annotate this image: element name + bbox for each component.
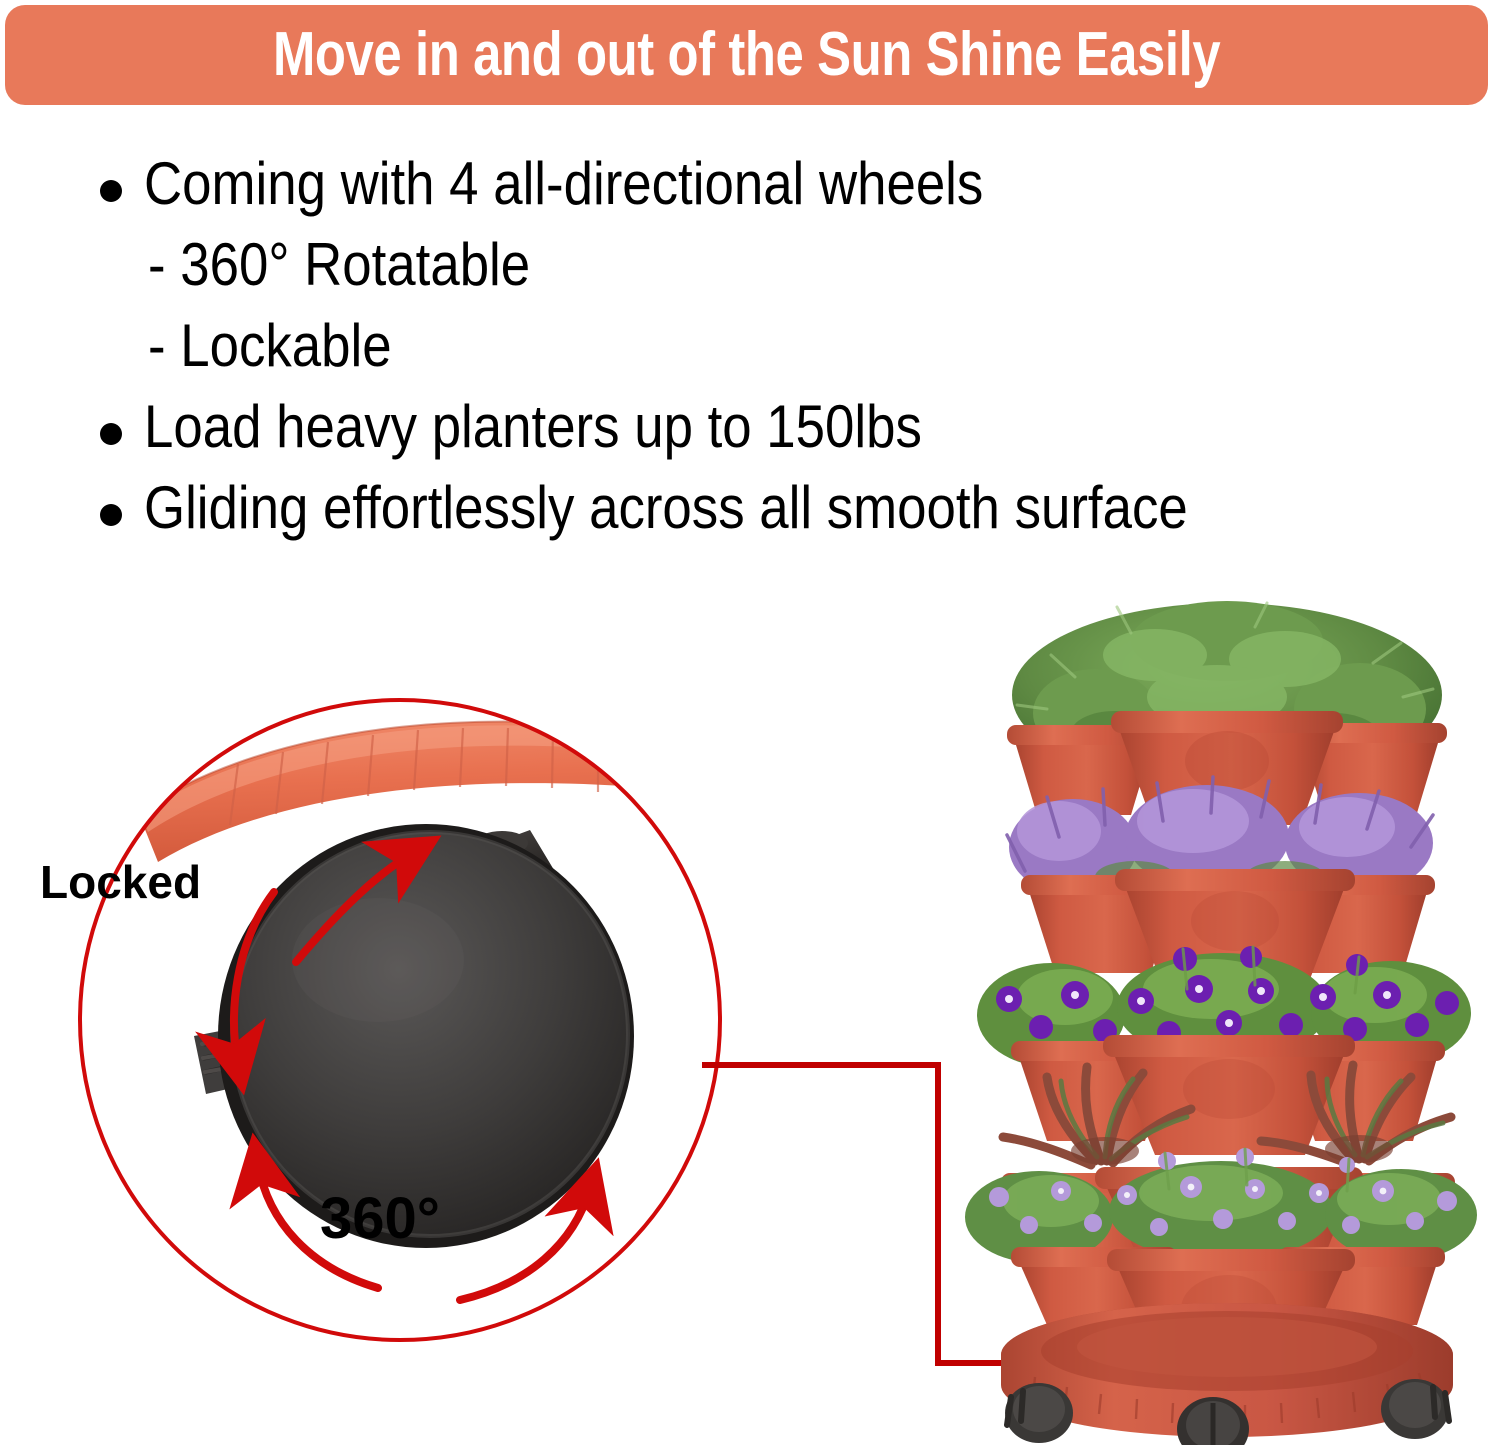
page-title: Move in and out of the Sun Shine Easily (273, 24, 1220, 86)
bullet-point-icon (100, 423, 122, 445)
list-item: Gliding effortlessly across all smooth s… (100, 476, 1480, 539)
feature-text: Coming with 4 all-directional wheels (144, 152, 983, 215)
feature-text: - Lockable (148, 314, 392, 377)
stackable-planter-tower-image (955, 585, 1500, 1445)
rotation-degree-label: 360° (320, 1185, 440, 1252)
tier-5-lobelia (965, 1148, 1477, 1263)
header-banner: Move in and out of the Sun Shine Easily (5, 5, 1488, 105)
list-item: Coming with 4 all-directional wheels (100, 152, 1480, 215)
feature-text: Load heavy planters up to 150lbs (144, 395, 922, 458)
feature-text: Gliding effortlessly across all smooth s… (144, 476, 1188, 539)
feature-text: - 360° Rotatable (148, 233, 530, 296)
list-item: - Lockable (100, 314, 1480, 377)
list-item: - 360° Rotatable (100, 233, 1480, 296)
locked-label: Locked (40, 855, 201, 909)
bullet-point-icon (100, 504, 122, 526)
base-caster-wheel-left (1005, 1383, 1073, 1443)
bullet-point-icon (100, 180, 122, 202)
list-item: Load heavy planters up to 150lbs (100, 395, 1480, 458)
base-caster-wheel-right (1381, 1379, 1449, 1439)
feature-list: Coming with 4 all-directional wheels - 3… (100, 152, 1480, 557)
